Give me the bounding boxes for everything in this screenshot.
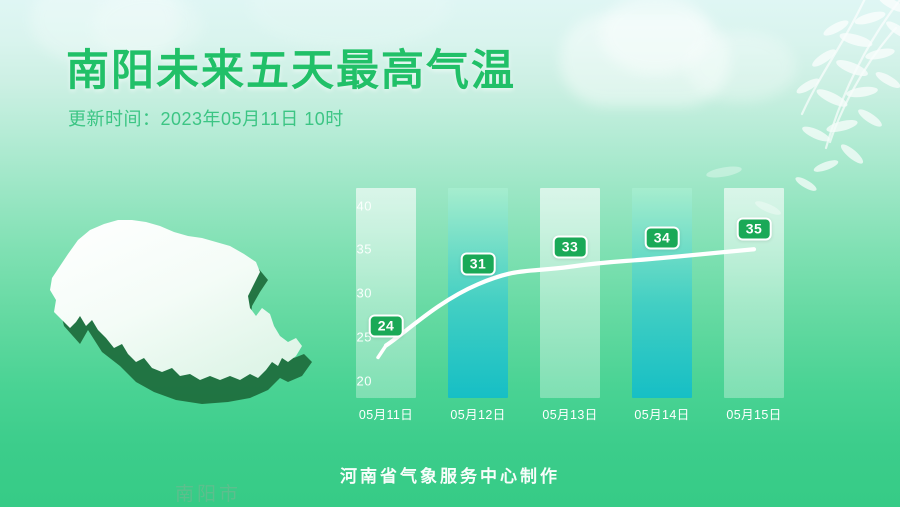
chart-value-badge: 35 <box>737 218 772 241</box>
chart-value-badge: 24 <box>369 314 404 337</box>
footer-credit: 河南省气象服务中心制作 <box>0 462 900 487</box>
chart-value-badge: 34 <box>645 227 680 250</box>
temperature-chart: 2025303540 2431333435 05月11日05月12日05月13日… <box>340 180 860 425</box>
x-axis-tick: 05月12日 <box>435 404 521 423</box>
chart-bar <box>540 188 600 398</box>
chart-value-badge: 31 <box>461 253 496 276</box>
chart-value-badge: 33 <box>553 235 588 258</box>
x-axis-tick: 05月14日 <box>619 404 705 423</box>
page-title: 南阳未来五天最高气温 <box>66 44 516 98</box>
x-axis-tick: 05月11日 <box>343 404 429 423</box>
chart-bar <box>632 188 692 398</box>
cloud-icon <box>250 0 450 50</box>
x-axis-tick: 05月13日 <box>527 404 613 423</box>
weather-poster: 南阳未来五天最高气温 更新时间：2023年05月11日 10时 南阳市 2025… <box>0 0 900 507</box>
x-axis-tick: 05月15日 <box>711 404 797 423</box>
chart-bar <box>356 188 416 398</box>
chart-bar <box>448 188 508 398</box>
nanyang-map: 南阳市 <box>30 196 350 416</box>
update-time-text: 更新时间：2023年05月11日 10时 <box>68 106 344 132</box>
nanyang-city-map-shape <box>30 196 350 416</box>
